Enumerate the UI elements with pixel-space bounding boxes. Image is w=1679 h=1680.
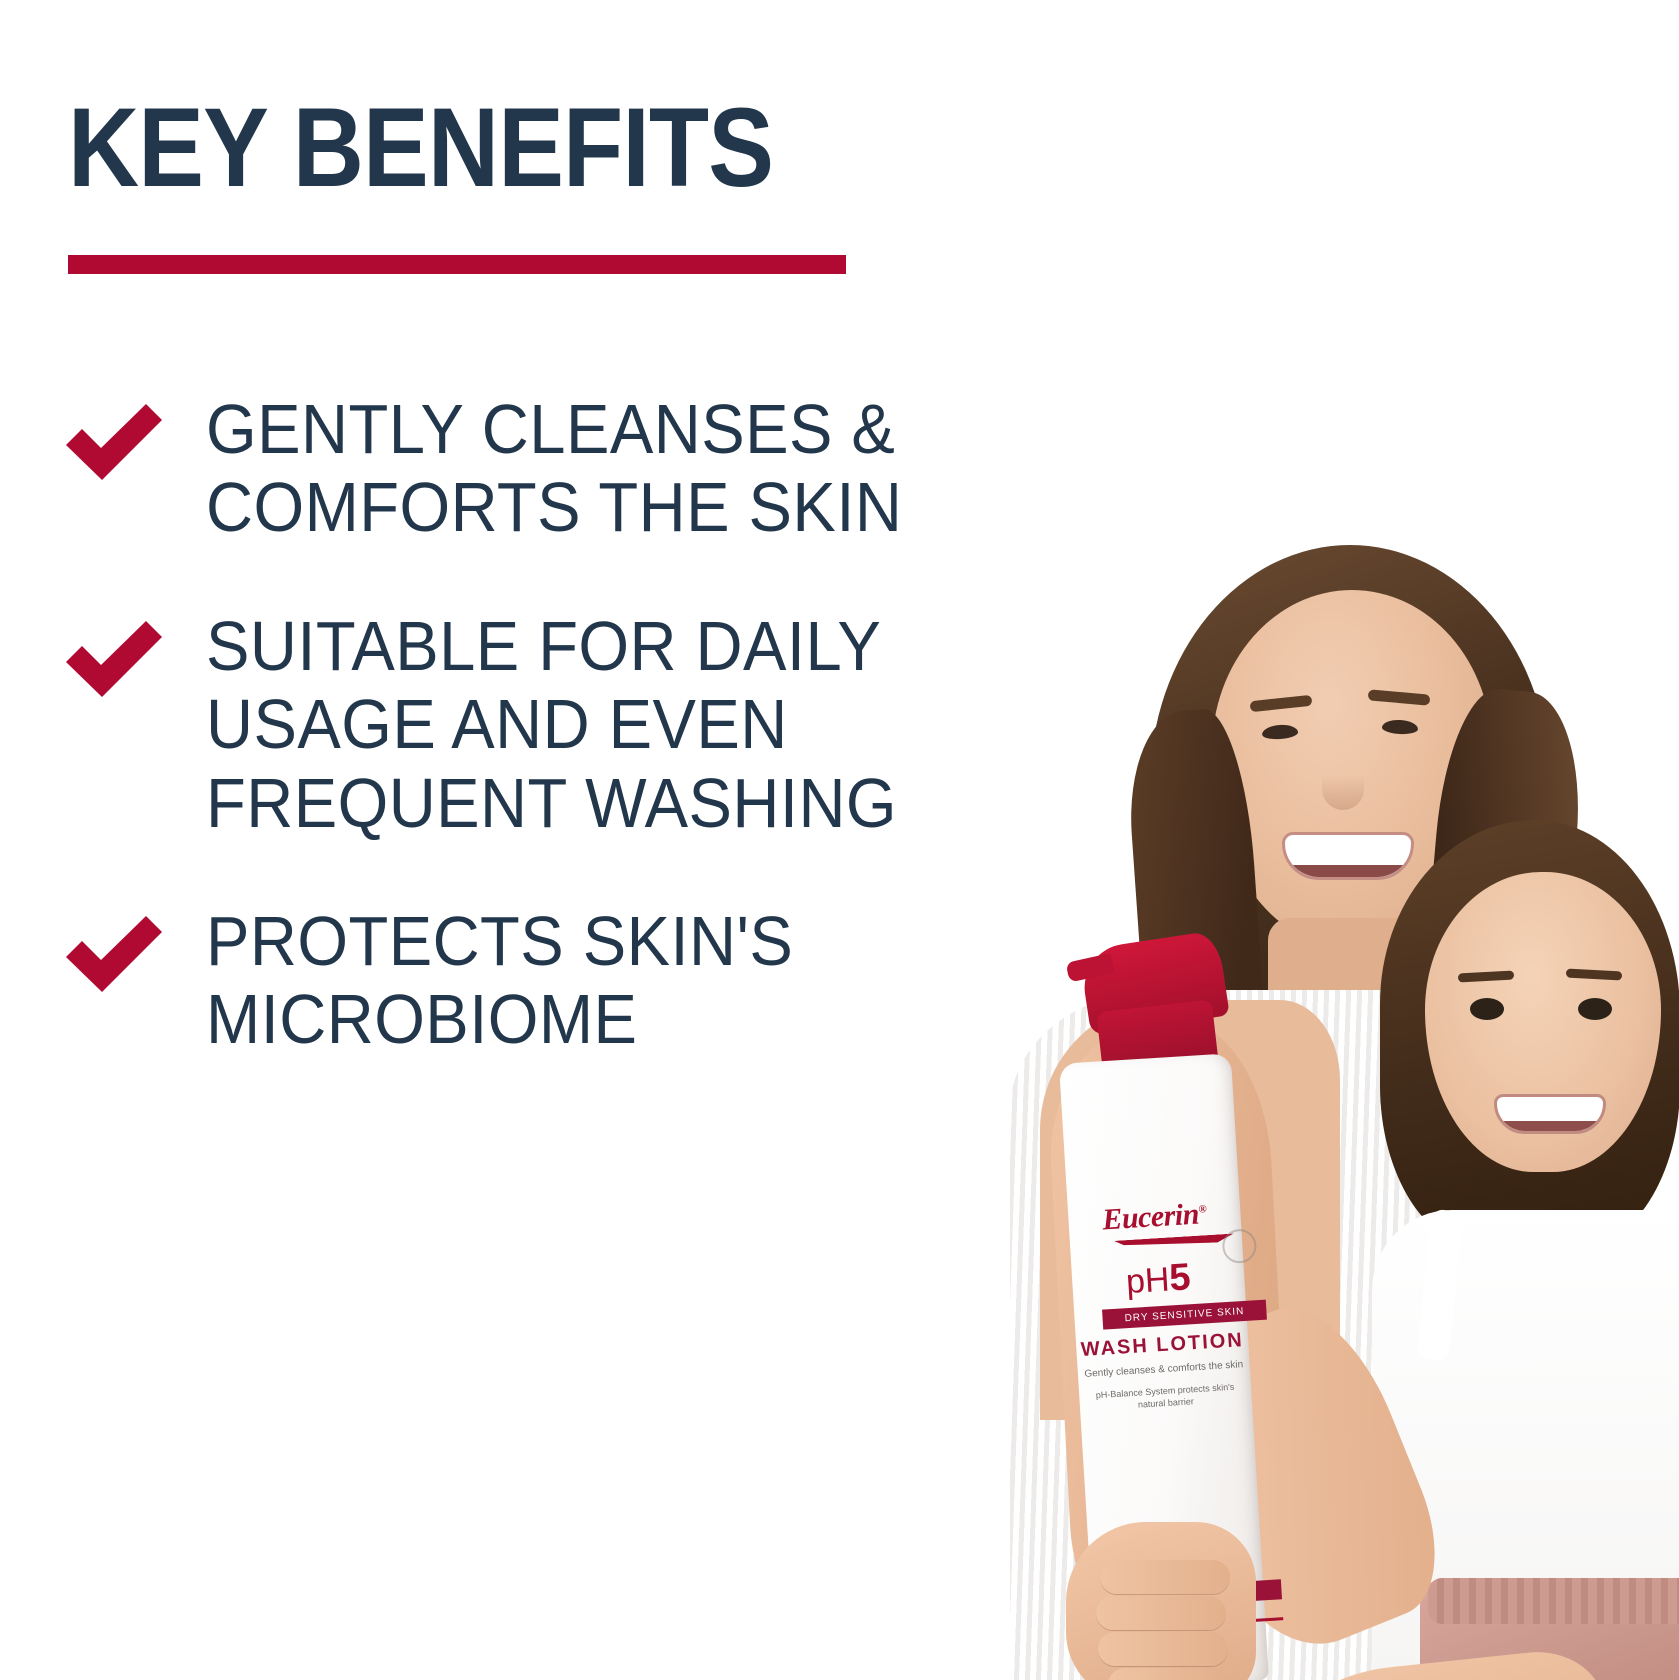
child-shorts-waistband (1428, 1578, 1679, 1624)
benefit-item-1: GENTLY CLEANSES & COMFORTS THE SKIN (66, 390, 1076, 547)
page-title: KEY BENEFITS (68, 92, 825, 204)
child-smile (1494, 1094, 1606, 1134)
header-block: KEY BENEFITS (68, 92, 928, 204)
skin-type-banner: DRY SENSITIVE SKIN (1102, 1300, 1267, 1330)
finger (1100, 1560, 1230, 1594)
brand-swoosh-icon (1114, 1233, 1234, 1248)
benefits-list: GENTLY CLEANSES & COMFORTS THE SKIN SUIT… (66, 390, 1076, 1059)
check-icon (66, 902, 206, 994)
product-name: WASH LOTION (1076, 1329, 1249, 1362)
claim-line-1: Gently cleanses & comforts the skin (1078, 1359, 1250, 1380)
finger (1096, 1596, 1226, 1630)
check-icon (66, 607, 206, 699)
benefit-item-2: SUITABLE FOR DAILY USAGE AND EVEN FREQUE… (66, 607, 1076, 842)
registered-mark-icon: ® (1198, 1203, 1206, 1215)
finger (1108, 1668, 1220, 1680)
claim-line-2: pH-Balance System protects skin's natura… (1079, 1381, 1252, 1415)
benefit-item-3: PROTECTS SKIN'S MICROBIOME (66, 902, 1076, 1059)
brand-name: Eucerin (1101, 1198, 1199, 1237)
mother-nose (1322, 752, 1364, 810)
child-eye-left (1470, 998, 1504, 1020)
brand-logo: Eucerin® (1068, 1195, 1242, 1239)
ph-number: 5 (1168, 1256, 1192, 1299)
key-benefits-banner: KEY BENEFITS GENTLY CLEANSES & COMFORTS … (0, 0, 1679, 1680)
mother-fingers (1096, 1560, 1246, 1680)
finger (1098, 1632, 1228, 1666)
mother-smile (1282, 832, 1414, 880)
benefit-text-2: SUITABLE FOR DAILY USAGE AND EVEN FREQUE… (206, 607, 1015, 842)
check-icon (66, 390, 206, 482)
benefit-text-3: PROTECTS SKIN'S MICROBIOME (206, 902, 1015, 1059)
child-eye-right (1578, 998, 1612, 1020)
ph-prefix: pH (1125, 1261, 1171, 1302)
title-underline-rule (68, 255, 846, 274)
lifestyle-photo: Eucerin® pH5 DRY SENSITIVE SKIN WASH LOT… (1000, 520, 1679, 1680)
benefit-text-1: GENTLY CLEANSES & COMFORTS THE SKIN (206, 390, 1015, 547)
ph-value: pH5 (1071, 1253, 1245, 1306)
